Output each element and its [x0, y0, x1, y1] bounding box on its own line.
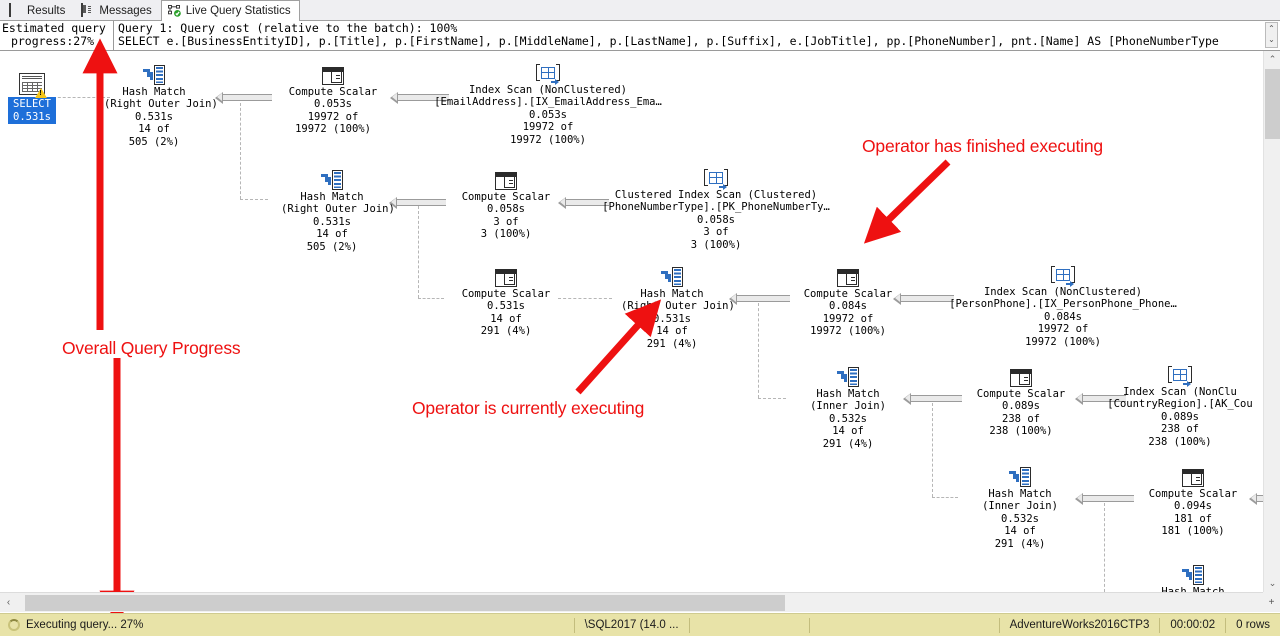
- operator-label-line1: Hash Match: [621, 288, 723, 300]
- compute-scalar-icon: [798, 263, 898, 287]
- operator-rows: 238 of: [971, 413, 1071, 425]
- annotation-operator-executing: Operator is currently executing: [412, 398, 644, 419]
- index-scan-icon: [1060, 361, 1280, 385]
- hash-match-icon: [797, 363, 899, 387]
- spinner-icon: [8, 619, 20, 631]
- annotation-arrow-finished: [840, 152, 960, 252]
- operator-total: 19972 (100%): [928, 336, 1198, 348]
- status-rows: 0 rows: [1225, 618, 1280, 633]
- status-elapsed: 00:00:02: [1159, 618, 1225, 633]
- connector-hashmatch1-branch-v: [240, 103, 241, 199]
- operator-hash-match-6[interactable]: Hash Match: [1143, 561, 1243, 592]
- index-scan-icon: [580, 164, 852, 188]
- tab-live-query-statistics[interactable]: Live Query Statistics: [161, 0, 300, 21]
- operator-clustered-index-scan-phonenumbertype[interactable]: Clustered Index Scan (Clustered) [PhoneN…: [580, 164, 852, 251]
- operator-label-line1: Index Scan (NonClustered): [928, 286, 1198, 298]
- tab-live-query-statistics-label: Live Query Statistics: [186, 5, 291, 17]
- operator-label-line2: (Inner Join): [797, 400, 899, 412]
- operator-label-line1: Compute Scalar: [798, 288, 898, 300]
- select-node-label: SELECT 0.531s: [8, 97, 56, 124]
- plan-vertical-scrollbar[interactable]: ⌃ ⌄: [1263, 51, 1280, 592]
- operator-label-line2: [CountryRegion].[AK_Cou: [1060, 398, 1280, 410]
- query-sql-line: SELECT e.[BusinessEntityID], p.[Title], …: [118, 35, 1280, 48]
- operator-label-line1: Compute Scalar: [456, 191, 556, 203]
- index-scan-icon: [928, 261, 1198, 285]
- operator-rows: 14 of: [797, 425, 899, 437]
- compute-scalar-icon: [971, 363, 1071, 387]
- horizontal-scroll-track[interactable]: [17, 594, 1263, 612]
- connector-hashmatch5-compute6: [1082, 495, 1134, 502]
- operator-time: 0.089s: [971, 400, 1071, 412]
- operator-label-line2: [EmailAddress].[IX_EmailAddress_Ema…: [413, 96, 683, 108]
- connector-hashmatch5-branch-v: [1104, 503, 1105, 592]
- connector-hashmatch2-branch-h: [418, 298, 444, 299]
- operator-label-line2: (Inner Join): [969, 500, 1071, 512]
- live-query-statistics-window: Results Messages Live Query Statistics: [0, 0, 1280, 636]
- connector-hashmatch4-branch-h: [932, 497, 958, 498]
- operator-label-line1: Compute Scalar: [456, 288, 556, 300]
- operator-total: 3 (100%): [580, 239, 852, 251]
- hash-match-icon: [621, 263, 723, 287]
- operator-time: 0.532s: [969, 513, 1071, 525]
- hash-match-icon: [969, 463, 1071, 487]
- operator-total: 505 (2%): [281, 241, 383, 253]
- operator-time: 0.084s: [798, 300, 898, 312]
- grid-icon: [9, 4, 23, 17]
- operator-label-line1: Clustered Index Scan (Clustered): [580, 189, 852, 201]
- operator-rows: 14 of: [281, 228, 383, 240]
- operator-total: 19972 (100%): [798, 325, 898, 337]
- annotation-arrow-progress-down: [100, 358, 140, 620]
- operator-rows: 3 of: [580, 226, 852, 238]
- operator-time: 0.089s: [1060, 411, 1280, 423]
- operator-time: 0.531s: [281, 216, 383, 228]
- plan-zoom-corner-button[interactable]: +: [1263, 592, 1280, 612]
- operator-time: 0.532s: [797, 413, 899, 425]
- tab-results-label: Results: [27, 5, 65, 17]
- operator-rows: 19972 of: [798, 313, 898, 325]
- query-cost-text: Query 1: Query cost (relative to the bat…: [114, 21, 1280, 50]
- connector-hashmatch2-compute2: [396, 199, 446, 206]
- operator-label-line1: Hash Match: [797, 388, 899, 400]
- operator-rows: 19972 of: [283, 111, 383, 123]
- operator-rows: 3 of: [456, 216, 556, 228]
- status-execution-group: Executing query... 27%: [0, 619, 143, 631]
- operator-hash-match-4[interactable]: Hash Match (Inner Join) 0.532s 14 of 291…: [797, 363, 899, 450]
- connector-hashmatch4-branch-v: [932, 403, 933, 497]
- hash-match-icon: [281, 166, 383, 190]
- select-node[interactable]: SELECT 0.531s: [8, 73, 56, 125]
- document-icon: [81, 4, 95, 17]
- connector-hashmatch1-compute1: [222, 94, 272, 101]
- operator-compute-scalar-4[interactable]: Compute Scalar 0.084s 19972 of 19972 (10…: [798, 263, 898, 338]
- operator-label-line1: Hash Match: [281, 191, 383, 203]
- index-scan-icon: [413, 59, 683, 83]
- operator-time: 0.058s: [456, 203, 556, 215]
- operator-time: 0.058s: [580, 214, 852, 226]
- hash-match-icon: [1143, 561, 1243, 585]
- status-blank: [809, 618, 999, 633]
- results-pane-tabstrip: Results Messages Live Query Statistics: [0, 0, 1280, 21]
- operator-label-line2: [PersonPhone].[IX_PersonPhone_Phone…: [928, 298, 1198, 310]
- compute-scalar-icon: [456, 166, 556, 190]
- vertical-scroll-thumb[interactable]: [1265, 69, 1280, 139]
- operator-hash-match-5[interactable]: Hash Match (Inner Join) 0.532s 14 of 291…: [969, 463, 1071, 550]
- live-query-statistics-icon: [168, 5, 182, 18]
- compute-scalar-icon: [283, 61, 383, 85]
- operator-time: 0.053s: [283, 98, 383, 110]
- operator-time: 0.094s: [1143, 500, 1243, 512]
- operator-label-line1: Index Scan (NonClu: [1060, 386, 1280, 398]
- connector-hashmatch4-compute5: [910, 395, 962, 402]
- scroll-up-button[interactable]: ⌃: [1264, 51, 1280, 68]
- operator-rows: 14 of: [969, 525, 1071, 537]
- operator-rows: 181 of: [1143, 513, 1243, 525]
- operator-label-line1: Compute Scalar: [1143, 488, 1243, 500]
- operator-time: 0.531s: [456, 300, 556, 312]
- tab-messages-label: Messages: [99, 5, 151, 17]
- operator-total: 3 (100%): [456, 228, 556, 240]
- operator-total: 181 (100%): [1143, 525, 1243, 537]
- select-node-name: SELECT: [13, 98, 51, 111]
- operator-compute-scalar-3[interactable]: Compute Scalar 0.531s 14 of 291 (4%): [456, 263, 556, 338]
- tab-results[interactable]: Results: [2, 0, 74, 20]
- operator-label-line1: Index Scan (NonClustered): [413, 84, 683, 96]
- operator-time: 0.053s: [413, 109, 683, 121]
- operator-compute-scalar-1[interactable]: Compute Scalar 0.053s 19972 of 19972 (10…: [283, 61, 383, 136]
- connector-hashmatch1-branch-h: [240, 199, 268, 200]
- connector-hashmatch3-branch-v: [758, 303, 759, 398]
- operator-total: 291 (4%): [969, 538, 1071, 550]
- query-plan-header: Estimated query progress:27% Query 1: Qu…: [0, 21, 1280, 51]
- operator-index-scan-countryregion[interactable]: Index Scan (NonClu [CountryRegion].[AK_C…: [1060, 361, 1280, 448]
- operator-total: 291 (4%): [456, 325, 556, 337]
- status-database: AdventureWorks2016CTP3: [999, 618, 1160, 633]
- operator-index-scan-personphone[interactable]: Index Scan (NonClustered) [PersonPhone].…: [928, 261, 1198, 348]
- operator-compute-scalar-2[interactable]: Compute Scalar 0.058s 3 of 3 (100%): [456, 166, 556, 241]
- operator-label-line1: Hash Match: [969, 488, 1071, 500]
- operator-label-line2: (Right Outer Join): [281, 203, 383, 215]
- operator-total: 19972 (100%): [413, 134, 683, 146]
- horizontal-scroll-thumb[interactable]: [25, 595, 785, 611]
- operator-compute-scalar-6[interactable]: Compute Scalar 0.094s 181 of 181 (100%): [1143, 463, 1243, 538]
- operator-compute-scalar-5[interactable]: Compute Scalar 0.089s 238 of 238 (100%): [971, 363, 1071, 438]
- operator-total: 238 (100%): [1060, 436, 1280, 448]
- operator-total: 291 (4%): [797, 438, 899, 450]
- compute-scalar-icon: [456, 263, 556, 287]
- header-scroll-down-arrow[interactable]: ⌄: [1266, 34, 1277, 45]
- operator-total: 19972 (100%): [283, 123, 383, 135]
- operator-index-scan-emailaddress[interactable]: Index Scan (NonClustered) [EmailAddress]…: [413, 59, 683, 146]
- select-node-cost: 0.531s: [13, 111, 51, 124]
- annotation-overall-query-progress: Overall Query Progress: [62, 338, 240, 359]
- operator-label-line1: Compute Scalar: [971, 388, 1071, 400]
- scroll-down-button[interactable]: ⌄: [1264, 575, 1280, 592]
- header-scroll-up-arrow[interactable]: ⌃: [1266, 23, 1277, 34]
- status-user: [689, 618, 809, 633]
- header-scroll-spinner[interactable]: ⌃ ⌄: [1265, 22, 1278, 48]
- plan-horizontal-scrollbar[interactable]: ‹ ›: [0, 592, 1280, 612]
- operator-hash-match-2[interactable]: Hash Match (Right Outer Join) 0.531s 14 …: [281, 166, 383, 253]
- connector-hashmatch3-branch-h: [758, 398, 786, 399]
- connector-hashmatch2-branch-v: [418, 206, 419, 298]
- annotation-arrow-executing: [560, 300, 690, 400]
- warning-icon: [35, 88, 47, 98]
- connector-hashmatch3-compute4: [736, 295, 790, 302]
- tab-messages[interactable]: Messages: [74, 0, 160, 20]
- status-execution-text: Executing query... 27%: [26, 619, 143, 631]
- operator-rows: 238 of: [1060, 423, 1280, 435]
- operator-time: 0.084s: [928, 311, 1198, 323]
- connector-compute3-hashmatch3: [558, 298, 612, 299]
- operator-label-line1: Compute Scalar: [283, 86, 383, 98]
- select-result-icon: [19, 73, 45, 95]
- operator-total: 238 (100%): [971, 425, 1071, 437]
- status-server: \SQL2017 (14.0 ...: [574, 618, 689, 633]
- operator-rows: 19972 of: [928, 323, 1198, 335]
- scroll-left-button[interactable]: ‹: [0, 594, 17, 612]
- compute-scalar-icon: [1143, 463, 1243, 487]
- operator-rows: 14 of: [456, 313, 556, 325]
- operator-label-line2: [PhoneNumberType].[PK_PhoneNumberTy…: [580, 201, 852, 213]
- status-bar: Executing query... 27% \SQL2017 (14.0 ..…: [0, 613, 1280, 636]
- operator-rows: 19972 of: [413, 121, 683, 133]
- annotation-arrow-progress-up: [80, 40, 120, 340]
